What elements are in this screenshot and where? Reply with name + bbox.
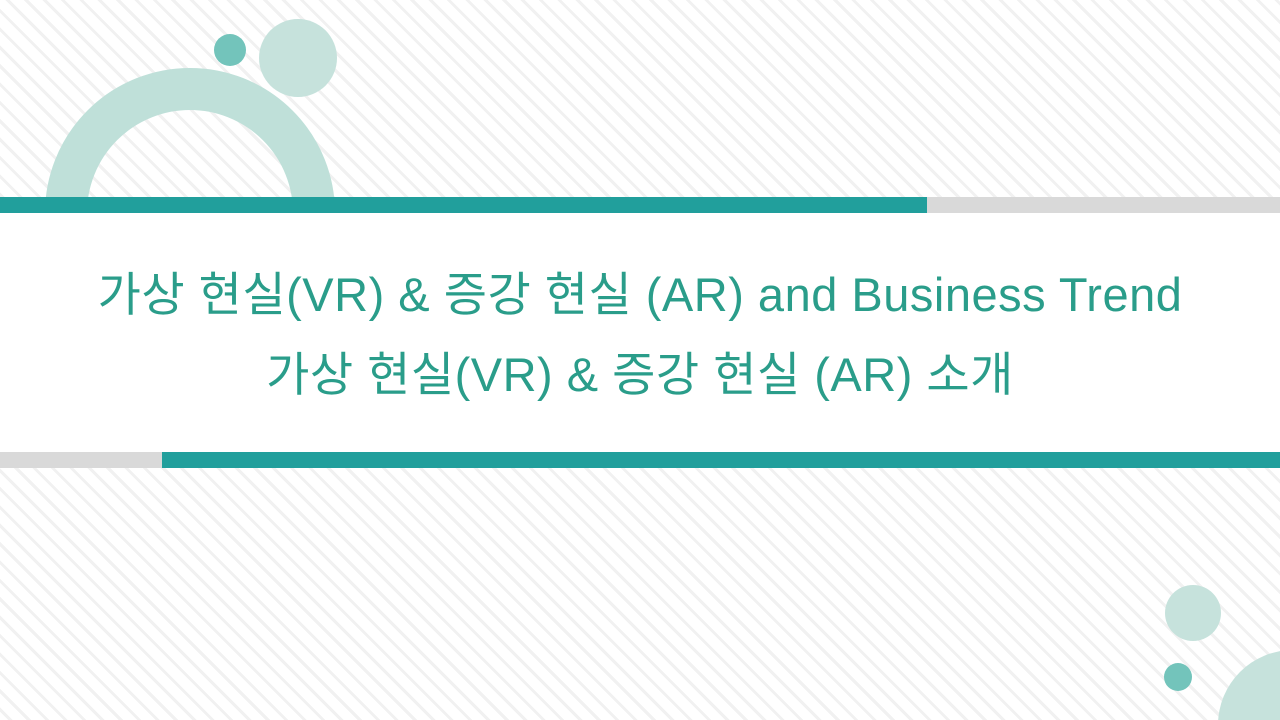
title-line-primary: 가상 현실(VR) & 증강 현실 (AR) and Business Tren… — [0, 255, 1280, 335]
page-title: 가상 현실(VR) & 증강 현실 (AR) and Business Tren… — [0, 255, 1280, 415]
top-divider-rule — [0, 197, 1280, 213]
bottom-rule-muted-segment — [0, 452, 162, 468]
bottom-divider-rule — [0, 452, 1280, 468]
top-rule-accent-segment — [0, 197, 927, 213]
title-line-secondary: 가상 현실(VR) & 증강 현실 (AR) 소개 — [0, 335, 1280, 415]
bottom-rule-accent-segment — [162, 452, 1280, 468]
top-rule-muted-segment — [927, 197, 1280, 213]
title-slide: 가상 현실(VR) & 증강 현실 (AR) and Business Tren… — [0, 0, 1280, 720]
